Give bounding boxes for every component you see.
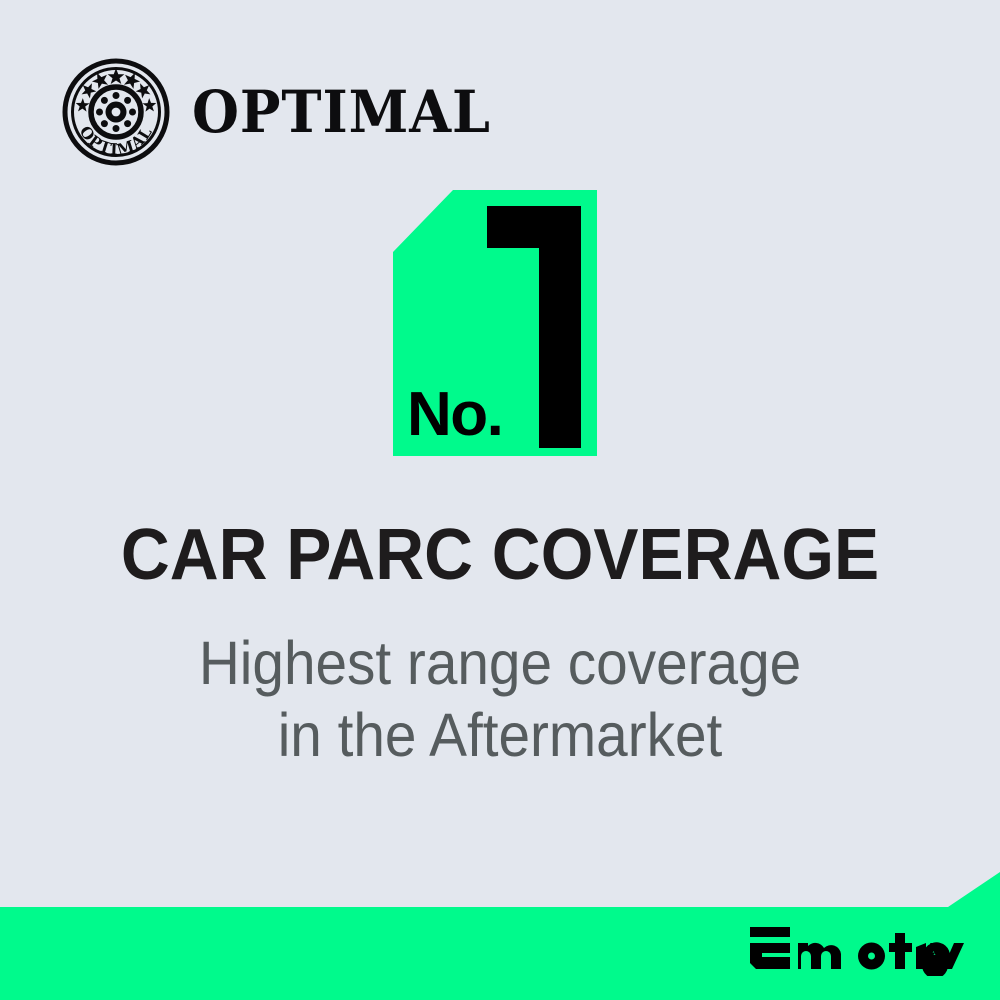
page-subtitle: Highest range coverage in the Aftermarke…: [147, 628, 854, 772]
rank-badge: No.: [393, 190, 597, 456]
emotive-wordmark-logo: [748, 926, 970, 976]
footer-band: [0, 870, 1000, 1000]
optimal-wordmark: OPTIMAL: [192, 83, 491, 141]
page-subtitle-line-2: in the Aftermarket: [147, 700, 854, 772]
optimal-wheel-badge-icon: OPTIMAL: [62, 58, 170, 166]
rank-prefix-label: No.: [407, 384, 502, 446]
page-subtitle-line-1: Highest range coverage: [147, 628, 854, 700]
promo-poster: OPTIMAL OPTIMAL: [0, 0, 1000, 1000]
page-title: CAR PARC COVERAGE: [30, 519, 970, 591]
brand-lockup: OPTIMAL OPTIMAL: [62, 58, 513, 166]
